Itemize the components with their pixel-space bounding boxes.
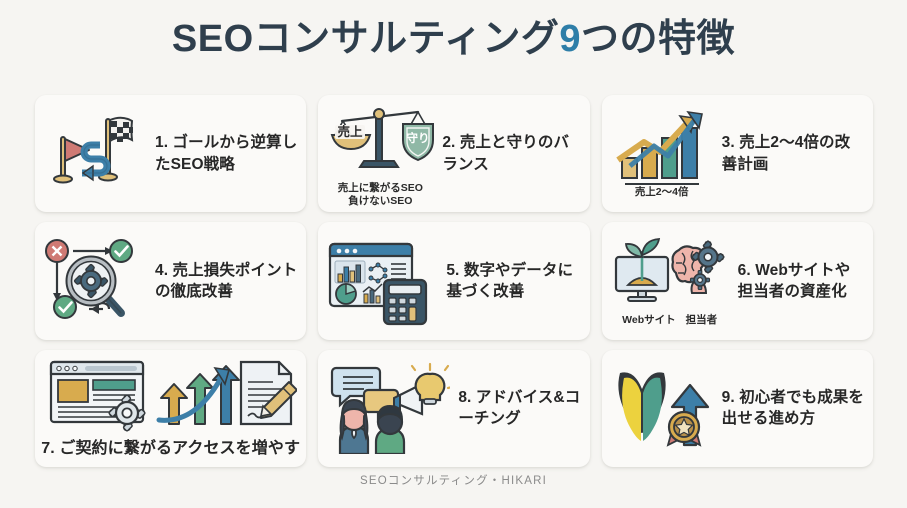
- feature-card-3[interactable]: 売上2〜4倍 3. 売上2〜4倍の改善計画: [602, 95, 873, 212]
- magnifier-gear-checklist-icon: [43, 237, 147, 325]
- feature-card-7-label: 7. ご契約に繋がるアクセスを増やす: [41, 438, 300, 461]
- footer-credit: SEOコンサルティング・HIKARI: [0, 472, 907, 488]
- feature-card-4-label: 4. 売上損失ポイントの徹底改善: [155, 260, 298, 303]
- chart-axis-line: [625, 183, 699, 185]
- caption-line-1: 売上に繋がるSEO: [338, 182, 423, 195]
- website-gear-growth-contract-icon: [45, 356, 297, 436]
- feature-card-8-label: 8. アドバイス&コーチング: [458, 387, 581, 430]
- svg-text:守り: 守り: [407, 131, 430, 145]
- sub-label-website: Webサイト: [622, 312, 675, 327]
- feature-card-5-label: 5. 数字やデータに基づく改善: [446, 260, 581, 303]
- feature-card-4[interactable]: 4. 売上損失ポイントの徹底改善: [35, 222, 306, 339]
- goal-flag-reverse-arrow-icon: [43, 111, 147, 197]
- svg-text:売上: 売上: [338, 124, 364, 139]
- title-accent-number: 9: [559, 18, 581, 60]
- feature-card-3-icon-caption: 売上2〜4倍: [635, 186, 689, 199]
- feature-card-9-label: 9. 初心者でも成果を出せる進め方: [722, 387, 865, 430]
- feature-card-8[interactable]: 8. アドバイス&コーチング: [318, 350, 589, 467]
- feature-card-7[interactable]: 7. ご契約に繋がるアクセスを増やす: [35, 350, 306, 467]
- title-main: SEOコンサルティング: [172, 18, 559, 60]
- growth-bar-chart-arrow-icon: 売上2〜4倍: [610, 108, 714, 199]
- feature-card-1-label: 1. ゴールから逆算したSEO戦略: [155, 132, 298, 175]
- feature-card-6-label: 6. Webサイトや担当者の資産化: [738, 260, 865, 303]
- feature-card-2-label: 2. 売上と守りのバランス: [442, 132, 581, 175]
- sub-label-owner: 担当者: [686, 312, 718, 327]
- feature-card-6-icon-captions: Webサイト 担当者: [622, 312, 717, 327]
- feature-card-6[interactable]: Webサイト 担当者 6. Webサイトや担当者の資産化: [602, 222, 873, 339]
- infographic-slide: SEOコンサルティング9つの特徴: [0, 0, 907, 508]
- features-grid: 1. ゴールから逆算したSEO戦略: [35, 95, 873, 467]
- feature-card-1[interactable]: 1. ゴールから逆算したSEO戦略: [35, 95, 306, 212]
- beginner-leaf-arrow-medal-icon: [610, 365, 714, 451]
- people-speech-megaphone-bulb-icon: [326, 362, 450, 454]
- feature-card-5[interactable]: 5. 数字やデータに基づく改善: [318, 222, 589, 339]
- feature-card-2-icon-caption: 売上に繋がるSEO 負けないSEO: [338, 182, 423, 208]
- dashboard-calculator-icon: [326, 236, 438, 326]
- page-title: SEOコンサルティング9つの特徴: [0, 0, 907, 61]
- feature-card-9[interactable]: 9. 初心者でも成果を出せる進め方: [602, 350, 873, 467]
- feature-card-3-label: 3. 売上2〜4倍の改善計画: [722, 132, 865, 175]
- caption-line-2: 負けないSEO: [338, 195, 423, 208]
- feature-card-2[interactable]: 売上 守り 売上に繋がるSEO 負けないSEO 2. 売上と守りのバランス: [318, 95, 589, 212]
- title-tail: つの特徴: [581, 18, 735, 60]
- monitor-sprout-brain-gear-icon: Webサイト 担当者: [610, 235, 730, 327]
- balance-scale-shield-icon: 売上 守り 売上に繋がるSEO 負けないSEO: [326, 99, 434, 208]
